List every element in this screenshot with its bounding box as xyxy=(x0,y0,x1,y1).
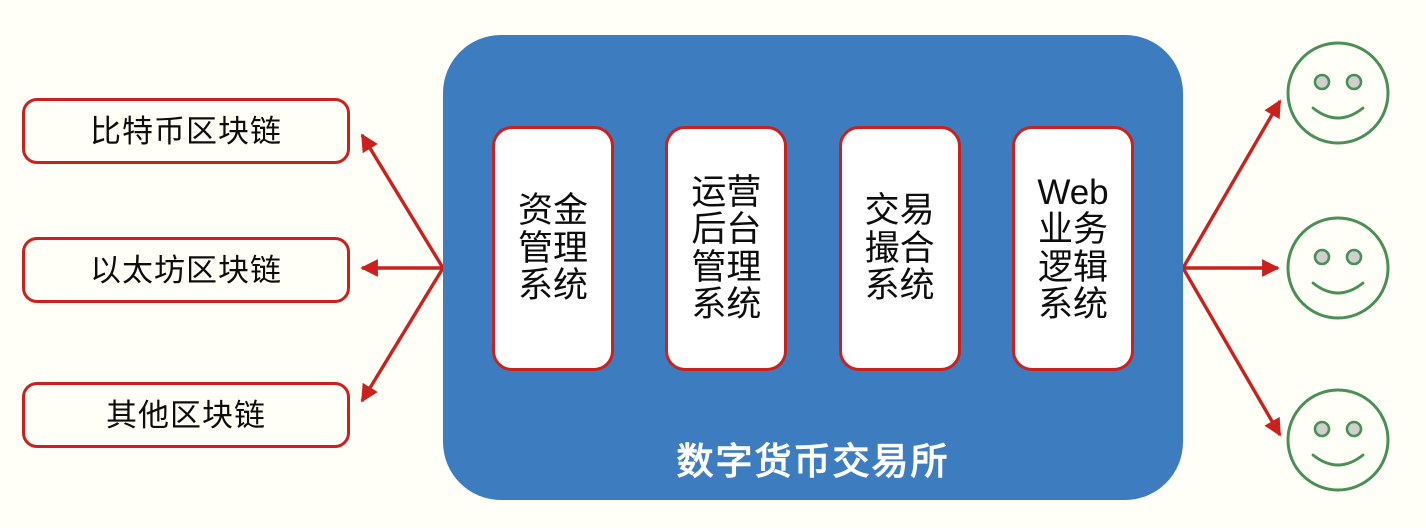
subsystem-card-trade-matching[interactable]: 交易 撮合 系统 xyxy=(839,126,961,371)
subsystem-line: 业务 xyxy=(1038,211,1108,248)
subsystem-card-web-business-logic[interactable]: Web 业务 逻辑 系统 xyxy=(1012,126,1134,371)
subsystem-line: 运营 xyxy=(691,174,761,211)
subsystem-line: 逻辑 xyxy=(1038,249,1108,286)
smiley-face-icon-user-2[interactable] xyxy=(1285,215,1391,321)
subsystem-line: Web xyxy=(1037,174,1108,211)
smiley-face-icon-user-3[interactable] xyxy=(1285,387,1391,493)
subsystem-line: 系统 xyxy=(865,267,935,304)
subsystem-line: 资金 xyxy=(518,192,588,229)
blockchain-box-bitcoin[interactable]: 比特币区块链 xyxy=(22,98,350,164)
arrow-exchange-to-bitcoin xyxy=(362,135,443,268)
arrow-exchange-to-user-3 xyxy=(1183,268,1280,435)
blockchain-label-ethereum: 以太坊区块链 xyxy=(90,255,282,286)
exchange-title: 数字货币交易所 xyxy=(443,431,1183,485)
smiley-face-icon-user-1[interactable] xyxy=(1285,40,1391,146)
subsystem-line: 管理 xyxy=(518,230,588,267)
arrow-exchange-to-user-1 xyxy=(1183,101,1280,268)
blockchain-box-other[interactable]: 其他区块链 xyxy=(22,382,350,448)
blockchain-label-other: 其他区块链 xyxy=(106,400,266,431)
subsystem-line: 交易 xyxy=(865,192,935,229)
subsystem-line: 管理 xyxy=(691,249,761,286)
subsystem-line: 系统 xyxy=(518,267,588,304)
subsystem-line: 撮合 xyxy=(865,230,935,267)
subsystem-row: 资金 管理 系统 运营 后台 管理 系统 交易 撮合 系统 Web 业务 逻辑 … xyxy=(492,126,1134,371)
subsystem-line: 系统 xyxy=(1038,286,1108,323)
architecture-diagram: 比特币区块链 以太坊区块链 其他区块链 资金 管理 系统 运营 后台 管理 系统… xyxy=(0,0,1426,528)
blockchain-box-ethereum[interactable]: 以太坊区块链 xyxy=(22,237,350,303)
subsystem-line: 系统 xyxy=(691,286,761,323)
arrow-exchange-to-other-chain xyxy=(362,268,443,401)
subsystem-line: 后台 xyxy=(691,211,761,248)
subsystem-card-fund-management[interactable]: 资金 管理 系统 xyxy=(492,126,614,371)
exchange-panel[interactable]: 资金 管理 系统 运营 后台 管理 系统 交易 撮合 系统 Web 业务 逻辑 … xyxy=(443,35,1183,500)
subsystem-card-operations-backend[interactable]: 运营 后台 管理 系统 xyxy=(665,126,787,371)
blockchain-label-bitcoin: 比特币区块链 xyxy=(90,116,282,147)
